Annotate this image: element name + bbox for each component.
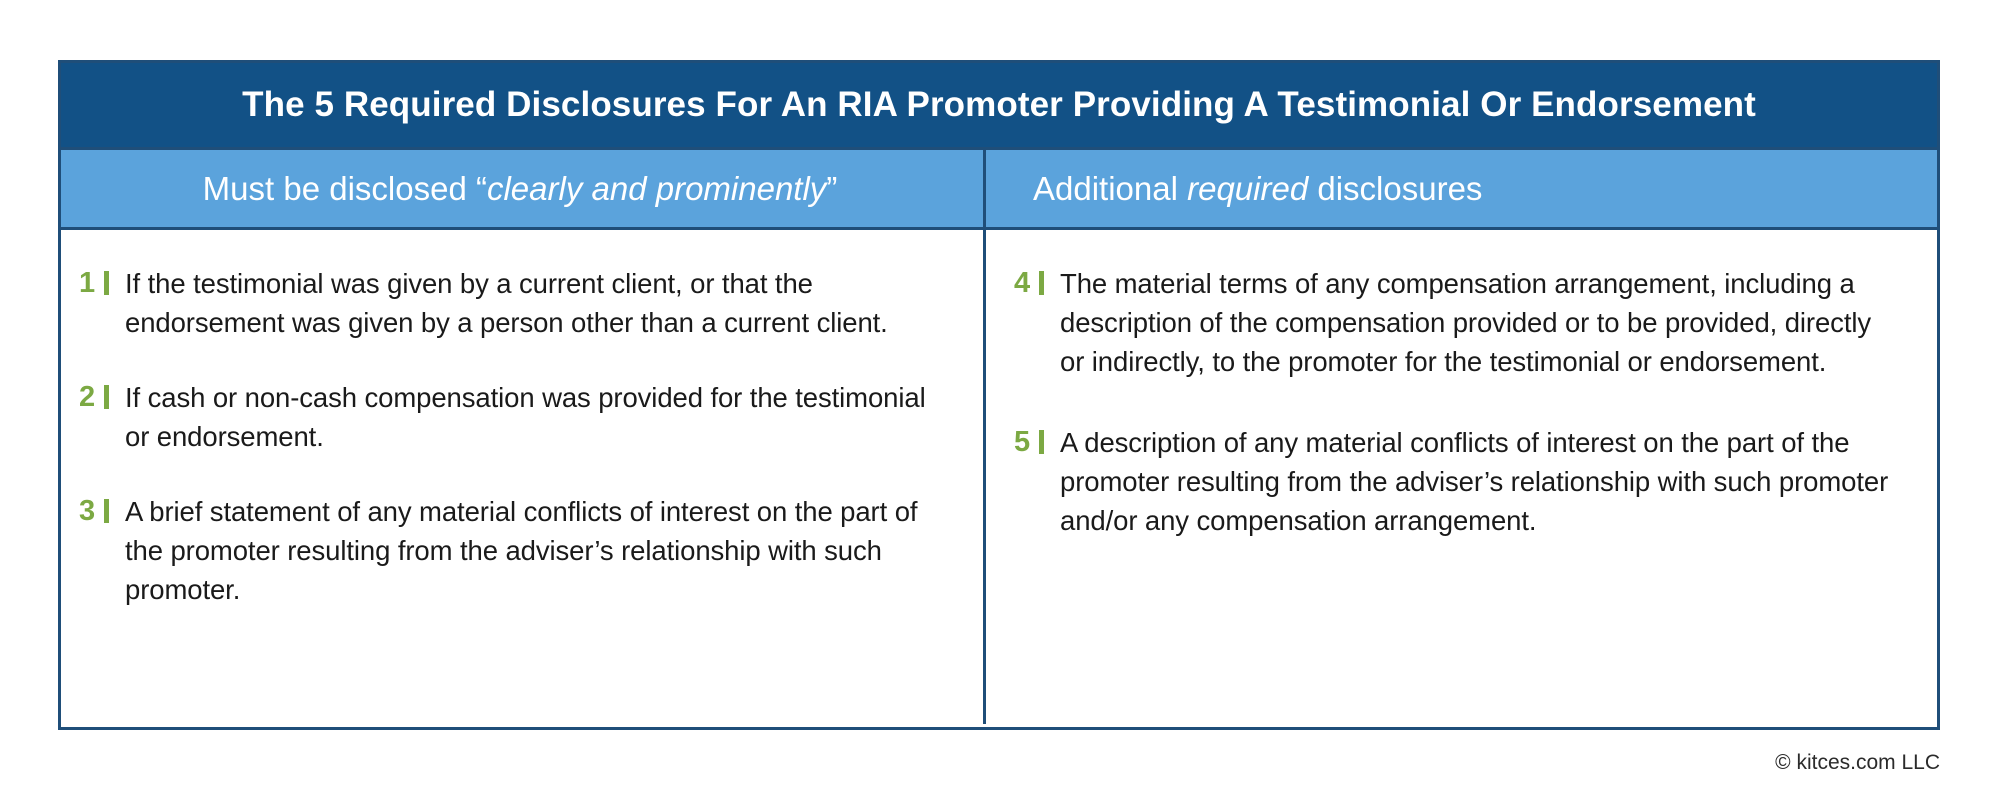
column-header-right-emphasis: required [1187, 170, 1308, 207]
vertical-bar-icon [104, 385, 109, 409]
item-marker: 4 [1014, 264, 1060, 303]
column-header-left-prefix: Must be disclosed “ [203, 170, 487, 207]
item-text: The material terms of any compensation a… [1060, 264, 1897, 381]
copyright-credit: © kitces.com LLC [1775, 752, 1940, 773]
item-number: 3 [79, 492, 96, 531]
item-number: 1 [79, 264, 96, 303]
vertical-bar-icon [104, 499, 109, 523]
page-title: The 5 Required Disclosures For An RIA Pr… [242, 86, 1756, 125]
list-item: 5 A description of any material conflict… [1014, 423, 1897, 540]
item-text: If the testimonial was given by a curren… [125, 264, 955, 342]
item-text: A brief statement of any material confli… [125, 492, 955, 609]
column-header-right: Additional required disclosures [1033, 170, 1482, 208]
item-number: 4 [1014, 264, 1031, 303]
column-headers-row: Must be disclosed “clearly and prominent… [61, 150, 1937, 230]
column-header-right-prefix: Additional [1033, 170, 1187, 207]
vertical-bar-icon [1039, 430, 1044, 454]
infographic-page: The 5 Required Disclosures For An RIA Pr… [0, 0, 2000, 811]
column-header-cell-right: Additional required disclosures [986, 150, 1937, 227]
vertical-bar-icon [104, 271, 109, 295]
column-header-cell-left: Must be disclosed “clearly and prominent… [61, 150, 986, 227]
column-body-right: 4 The material terms of any compensation… [986, 230, 1937, 724]
column-header-right-suffix: disclosures [1308, 170, 1482, 207]
item-marker: 2 [79, 378, 125, 417]
item-marker: 1 [79, 264, 125, 303]
list-item: 4 The material terms of any compensation… [1014, 264, 1897, 381]
column-header-left-suffix: ” [826, 170, 837, 207]
column-header-left-emphasis: clearly and prominently [487, 170, 826, 207]
disclosures-table: The 5 Required Disclosures For An RIA Pr… [58, 60, 1940, 730]
item-number: 2 [79, 378, 96, 417]
item-text: If cash or non-cash compensation was pro… [125, 378, 955, 456]
item-text: A description of any material conflicts … [1060, 423, 1897, 540]
column-body-left: 1 If the testimonial was given by a curr… [61, 230, 986, 724]
list-item: 2 If cash or non-cash compensation was p… [79, 378, 955, 456]
item-marker: 3 [79, 492, 125, 531]
list-item: 3 A brief statement of any material conf… [79, 492, 955, 609]
column-header-left: Must be disclosed “clearly and prominent… [203, 170, 838, 208]
table-title-band: The 5 Required Disclosures For An RIA Pr… [61, 63, 1937, 150]
table-body-row: 1 If the testimonial was given by a curr… [61, 230, 1937, 724]
item-number: 5 [1014, 423, 1031, 462]
item-marker: 5 [1014, 423, 1060, 462]
list-item: 1 If the testimonial was given by a curr… [79, 264, 955, 342]
vertical-bar-icon [1039, 271, 1044, 295]
